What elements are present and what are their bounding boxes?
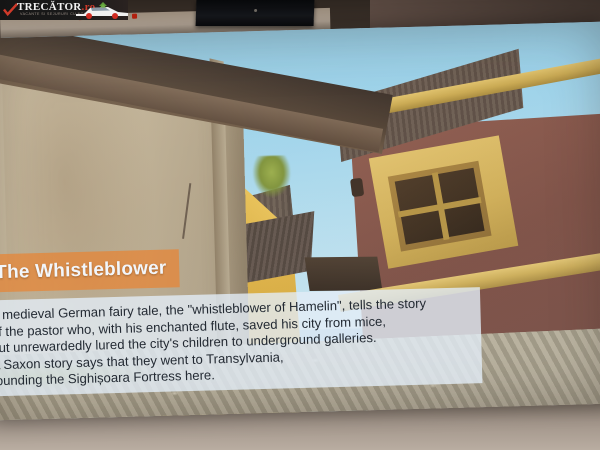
watermark: TRECĂTOR.ro VACANTE SI SEJURURI CU NOI bbox=[0, 0, 128, 20]
status-led-icon bbox=[254, 9, 257, 12]
awning bbox=[305, 257, 383, 291]
room-photograph: The Whistleblower A medieval German fair… bbox=[0, 0, 600, 450]
wall-lamp bbox=[350, 178, 364, 197]
wall-plant bbox=[252, 155, 291, 198]
projector-mount bbox=[196, 0, 315, 26]
car-icon bbox=[74, 1, 128, 19]
check-icon bbox=[3, 3, 18, 17]
projection-screen: The Whistleblower A medieval German fair… bbox=[0, 22, 600, 421]
slide-title-band: The Whistleblower bbox=[0, 249, 180, 292]
slide-title: The Whistleblower bbox=[0, 258, 167, 285]
slide-body-panel: A medieval German fairy tale, the "whist… bbox=[0, 287, 482, 396]
slide: The Whistleblower A medieval German fair… bbox=[0, 22, 600, 421]
